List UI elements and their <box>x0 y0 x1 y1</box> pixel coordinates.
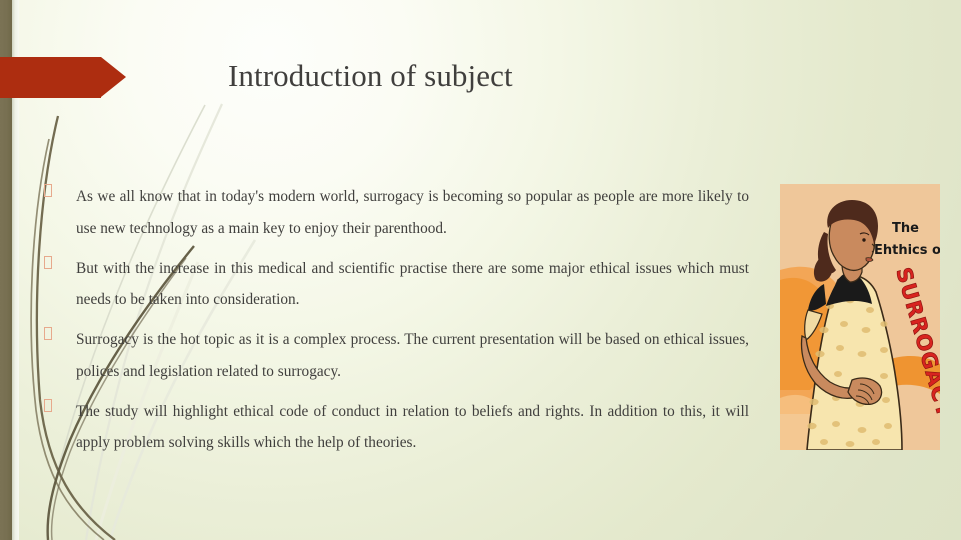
surrogacy-illustration: The Ehthics of SURROGACY <box>780 184 940 450</box>
list-item: As we all know that in today's modern wo… <box>44 181 749 244</box>
list-item: But with the increase in this medical an… <box>44 253 749 316</box>
bullet-marker-icon <box>44 184 52 197</box>
bullet-text: As we all know that in today's modern wo… <box>76 181 749 244</box>
illustration-artwork: The Ehthics of SURROGACY <box>780 184 940 450</box>
arrow-tag-tip <box>101 57 126 97</box>
bullet-marker-icon <box>44 399 52 412</box>
bullet-text: But with the increase in this medical an… <box>76 253 749 316</box>
bullet-marker-icon <box>44 327 52 340</box>
bullet-text: Surrogacy is the hot topic as it is a co… <box>76 324 749 387</box>
illustration-caption-line-2: Ehthics of <box>874 243 940 258</box>
illustration-caption-line-1: The <box>892 221 919 236</box>
arrow-tag-body <box>0 57 101 98</box>
list-item: Surrogacy is the hot topic as it is a co… <box>44 324 749 387</box>
slide-title: Introduction of subject <box>228 56 513 96</box>
bullet-text: The study will highlight ethical code of… <box>76 396 749 459</box>
bullet-marker-icon <box>44 256 52 269</box>
arrow-tag-decoration <box>0 57 126 98</box>
slide-canvas: Introduction of subject As we all know t… <box>0 0 961 540</box>
list-item: The study will highlight ethical code of… <box>44 396 749 459</box>
bullet-list: As we all know that in today's modern wo… <box>44 181 749 467</box>
